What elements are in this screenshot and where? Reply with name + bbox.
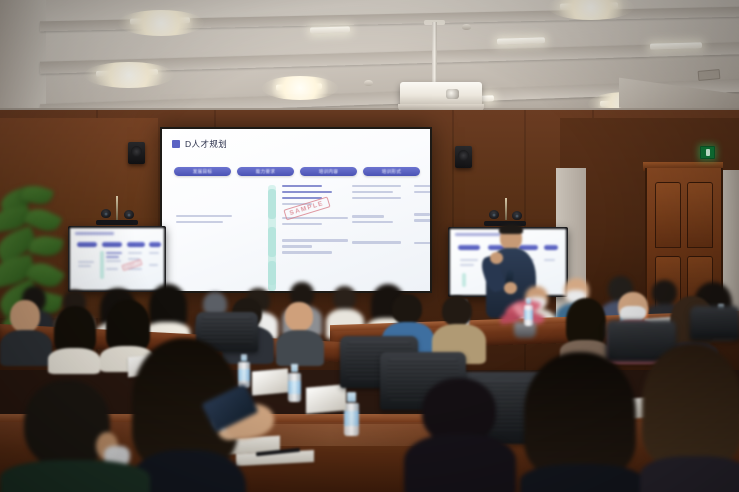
slide-col2-body (282, 185, 348, 257)
water-bottle[interactable] (288, 364, 301, 402)
column-header-pill: 能力要求 (237, 167, 294, 176)
video-camera-left-2 (124, 210, 134, 219)
video-camera-right-2 (512, 211, 522, 220)
ceiling (0, 0, 739, 128)
camera-mast-right (505, 198, 507, 220)
slide-content: D人才规划 发展目标 能力要求 (162, 129, 430, 291)
ceiling-light-strip (310, 27, 350, 34)
column-header-pill: 发展目标 (174, 167, 231, 176)
downlight-glow (118, 10, 204, 36)
conference-chair[interactable] (690, 306, 739, 340)
water-bottle[interactable] (524, 298, 533, 326)
conference-room-photo: D人才规划 发展目标 能力要求 (0, 0, 739, 492)
camera-bar-left (96, 220, 138, 225)
attendee-foreground (0, 380, 150, 492)
ceiling-light-strip (497, 37, 545, 44)
attendee-foreground (404, 378, 516, 492)
slide-col1-body (176, 215, 238, 245)
slide-col3-body (352, 185, 406, 247)
column-header-pill: 培训形式 (363, 167, 420, 176)
smoke-detector (462, 24, 471, 30)
ceiling-vent (698, 69, 721, 81)
exit-sign-icon (700, 146, 715, 159)
slide-column: 培训内容 (300, 167, 357, 176)
slide-column: 能力要求 (237, 167, 294, 176)
downlight-glow (262, 76, 338, 100)
slide-title: D人才规划 (185, 138, 227, 150)
smoke-detector (364, 80, 373, 86)
slide-column: 发展目标 (174, 167, 231, 176)
slide-column: 培训形式 (363, 167, 420, 176)
video-camera-left (101, 209, 111, 218)
square-bullet-icon (172, 140, 180, 148)
name-tent-card (252, 368, 288, 395)
camera-mast-left (116, 196, 118, 220)
projection-screen: D人才规划 发展目标 能力要求 (160, 127, 432, 293)
attendee-foreground (520, 352, 644, 492)
slide-columns: 发展目标 能力要求 培训内容 (174, 167, 420, 176)
slide-title-row: D人才规划 (172, 138, 420, 150)
video-camera-right (489, 210, 499, 219)
water-bottle[interactable] (344, 392, 359, 436)
attendee-foreground (640, 344, 739, 492)
projector-lens (446, 89, 459, 99)
column-header-pill: 培训内容 (300, 167, 357, 176)
wall-speaker-left (128, 142, 145, 164)
downlight-glow (84, 62, 174, 88)
name-tent-card (306, 384, 346, 413)
wall-speaker-right (455, 146, 472, 168)
slide-col4-body (414, 185, 430, 247)
